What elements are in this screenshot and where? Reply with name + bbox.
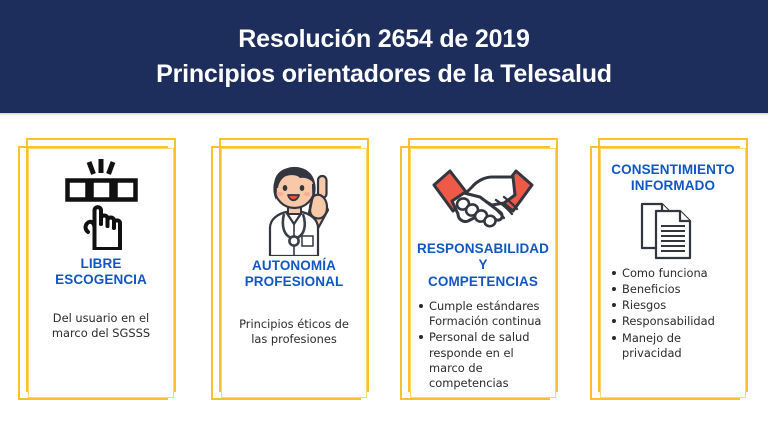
card-consentimiento-informado[interactable]: CONSENTIMIENTO INFORMADO bbox=[590, 138, 752, 400]
list-item: Personal de salud responde en el marco d… bbox=[416, 330, 550, 391]
card-text-line-2: marco del SGSSS bbox=[52, 326, 150, 341]
list-item: Beneficios bbox=[609, 282, 743, 297]
card-title-line-2: PROFESIONAL bbox=[245, 274, 344, 290]
card-title-libre-escogencia: LIBRE ESCOGENCIA bbox=[55, 256, 147, 289]
card-title-line-1: RESPONSABILIDAD Y bbox=[416, 241, 550, 274]
card-title-line-2: COMPETENCIAS bbox=[416, 274, 550, 290]
card-bullet-list-consentimiento: Como funciona Beneficios Riesgos Respons… bbox=[603, 266, 743, 362]
card-text-line-2: las profesiones bbox=[239, 332, 349, 347]
list-item: Responsabilidad bbox=[609, 314, 743, 329]
card-title-line-1: AUTONOMÍA bbox=[245, 258, 344, 274]
card-title-line-2: ESCOGENCIA bbox=[55, 272, 147, 288]
card-bullet-list-responsabilidad: Cumple estándares Formación continua Per… bbox=[416, 299, 550, 392]
card-text-libre-escogencia: Del usuario en el marco del SGSSS bbox=[52, 311, 150, 341]
handshake-icon bbox=[416, 156, 550, 239]
card-responsabilidad-competencias[interactable]: RESPONSABILIDAD Y COMPETENCIAS Cumple es… bbox=[400, 138, 562, 400]
card-title-line-1: LIBRE bbox=[55, 256, 147, 272]
list-item: Manejo de privacidad bbox=[609, 331, 743, 361]
card-title-line-2: INFORMADO bbox=[611, 178, 734, 194]
list-item: Riesgos bbox=[609, 298, 743, 313]
header-title-line-2: Principios orientadores de la Telesalud bbox=[156, 57, 612, 92]
card-text-line-1: Del usuario en el bbox=[52, 311, 150, 326]
card-text-line-1: Principios éticos de bbox=[239, 317, 349, 332]
card-autonomia-profesional[interactable]: AUTONOMÍA PROFESIONAL Principios éticos … bbox=[211, 138, 373, 400]
slide-header: Resolución 2654 de 2019 Principios orien… bbox=[0, 0, 768, 113]
card-title-consentimiento-informado: CONSENTIMIENTO INFORMADO bbox=[611, 162, 734, 195]
list-item: Como funciona bbox=[609, 266, 743, 281]
list-item: Cumple estándares Formación continua bbox=[416, 299, 550, 329]
header-title-line-1: Resolución 2654 de 2019 bbox=[238, 22, 529, 57]
documents-icon bbox=[606, 197, 740, 263]
card-title-line-1: CONSENTIMIENTO bbox=[611, 162, 734, 178]
principles-card-row: LIBRE ESCOGENCIA Del usuario en el marco… bbox=[0, 138, 768, 404]
pointing-hand-choice-icon bbox=[34, 156, 168, 252]
doctor-pointing-up-icon bbox=[227, 156, 361, 256]
card-title-responsabilidad-competencias: RESPONSABILIDAD Y COMPETENCIAS bbox=[416, 241, 550, 290]
card-libre-escogencia[interactable]: LIBRE ESCOGENCIA Del usuario en el marco… bbox=[18, 138, 180, 400]
card-title-autonomia-profesional: AUTONOMÍA PROFESIONAL bbox=[245, 258, 344, 291]
header-shadow bbox=[0, 113, 768, 116]
card-text-autonomia-profesional: Principios éticos de las profesiones bbox=[239, 317, 349, 347]
